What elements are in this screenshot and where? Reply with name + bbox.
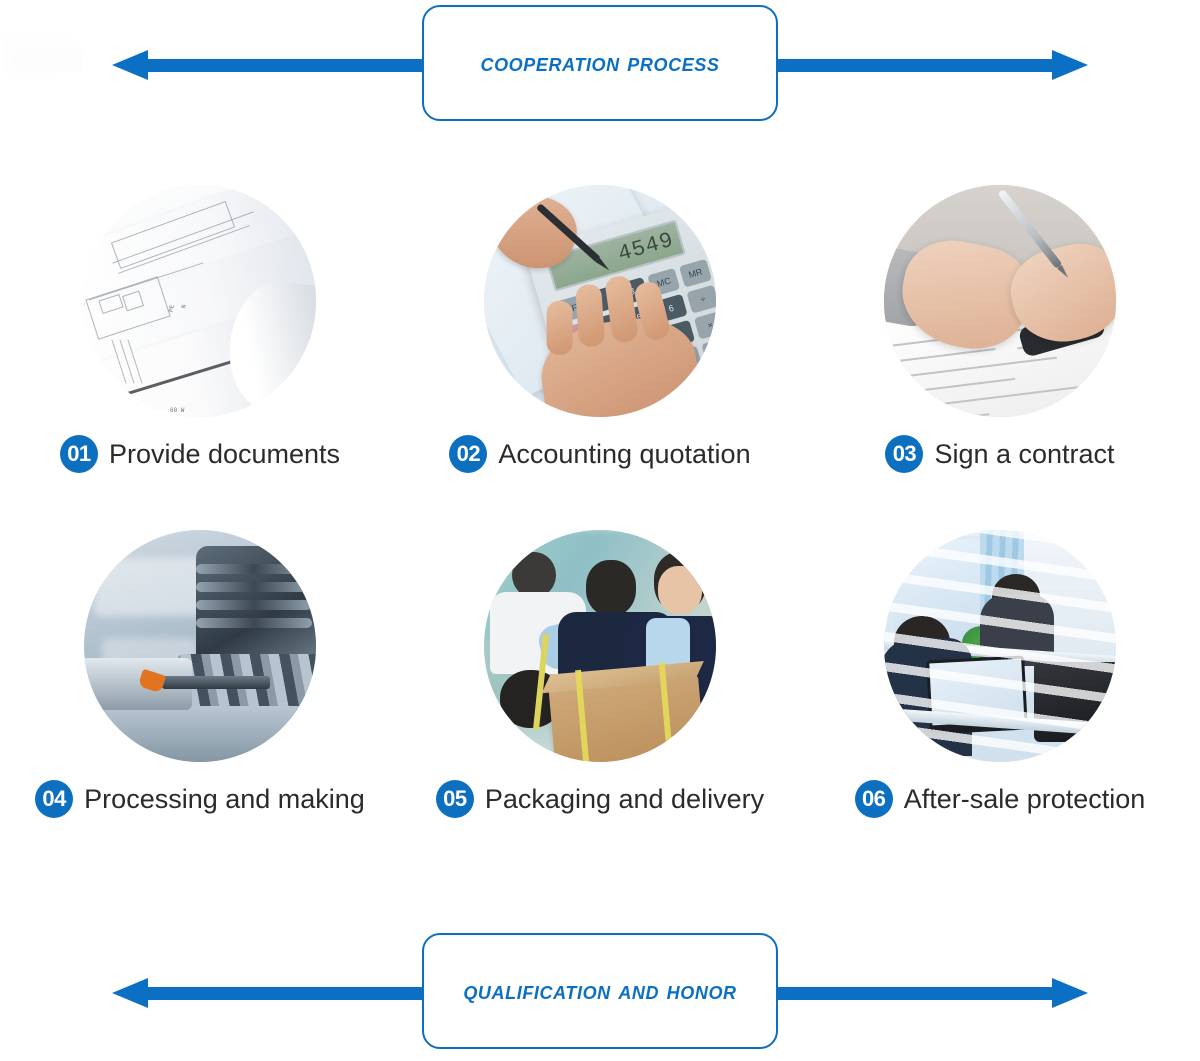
arrow-left-bar (146, 59, 441, 72)
cooperation-process-banner: Cooperation process (0, 0, 1200, 130)
step-card-01[interactable]: PE N b1 60 W 01 Provide documents (0, 185, 400, 530)
step-image-sign-a-contract (884, 185, 1116, 417)
step-badge-06: 06 (855, 780, 893, 818)
step-badge-03: 03 (885, 435, 923, 473)
step-image-processing-and-making (84, 530, 316, 762)
steps-row-1: PE N b1 60 W 01 Provide documents (0, 185, 1200, 530)
cooperation-steps: PE N b1 60 W 01 Provide documents (0, 150, 1200, 890)
step-label-01: Provide documents (109, 441, 340, 468)
step-caption-04: 04 Processing and making (35, 780, 365, 818)
step-badge-01: 01 (60, 435, 98, 473)
step-label-02: Accounting quotation (498, 441, 750, 468)
section-title-box-bottom: Qualification and honor (422, 933, 778, 1049)
step-caption-02: 02 Accounting quotation (449, 435, 750, 473)
step-label-03: Sign a contract (934, 441, 1114, 468)
arrow-right-bar (759, 59, 1054, 72)
step-caption-06: 06 After-sale protection (855, 780, 1146, 818)
step-image-packaging-and-delivery (484, 530, 716, 762)
step-label-06: After-sale protection (904, 786, 1146, 813)
step-caption-05: 05 Packaging and delivery (436, 780, 764, 818)
arrow-right-bar (759, 987, 1054, 1000)
section-title-top: Cooperation process (480, 49, 719, 78)
step-badge-02: 02 (449, 435, 487, 473)
steps-row-2: 04 Processing and making (0, 530, 1200, 875)
arrow-left-icon (112, 50, 148, 80)
step-card-04[interactable]: 04 Processing and making (0, 530, 400, 875)
step-image-provide-documents: PE N b1 60 W (84, 185, 316, 417)
step-badge-05: 05 (436, 780, 474, 818)
arrow-left-icon (112, 978, 148, 1008)
arrow-right-icon (1052, 50, 1088, 80)
step-card-06[interactable]: 06 After-sale protection (800, 530, 1200, 875)
step-caption-01: 01 Provide documents (60, 435, 340, 473)
step-badge-04: 04 (35, 780, 73, 818)
step-caption-03: 03 Sign a contract (885, 435, 1114, 473)
step-label-04: Processing and making (84, 786, 365, 813)
arrow-right-icon (1052, 978, 1088, 1008)
section-title-box-top: Cooperation process (422, 5, 778, 121)
step-card-03[interactable]: 03 Sign a contract (800, 185, 1200, 530)
step-label-05: Packaging and delivery (485, 786, 764, 813)
step-image-accounting-quotation: 4549 OFF78MCMR CE456÷ ON123× 0.=−% (484, 185, 716, 417)
section-title-bottom: Qualification and honor (463, 977, 736, 1006)
arrow-left-bar (146, 987, 441, 1000)
qualification-and-honor-banner: Qualification and honor (0, 928, 1200, 1058)
step-card-05[interactable]: 05 Packaging and delivery (400, 530, 800, 875)
step-card-02[interactable]: 4549 OFF78MCMR CE456÷ ON123× 0.=−% (400, 185, 800, 530)
step-image-after-sale-protection (884, 530, 1116, 762)
